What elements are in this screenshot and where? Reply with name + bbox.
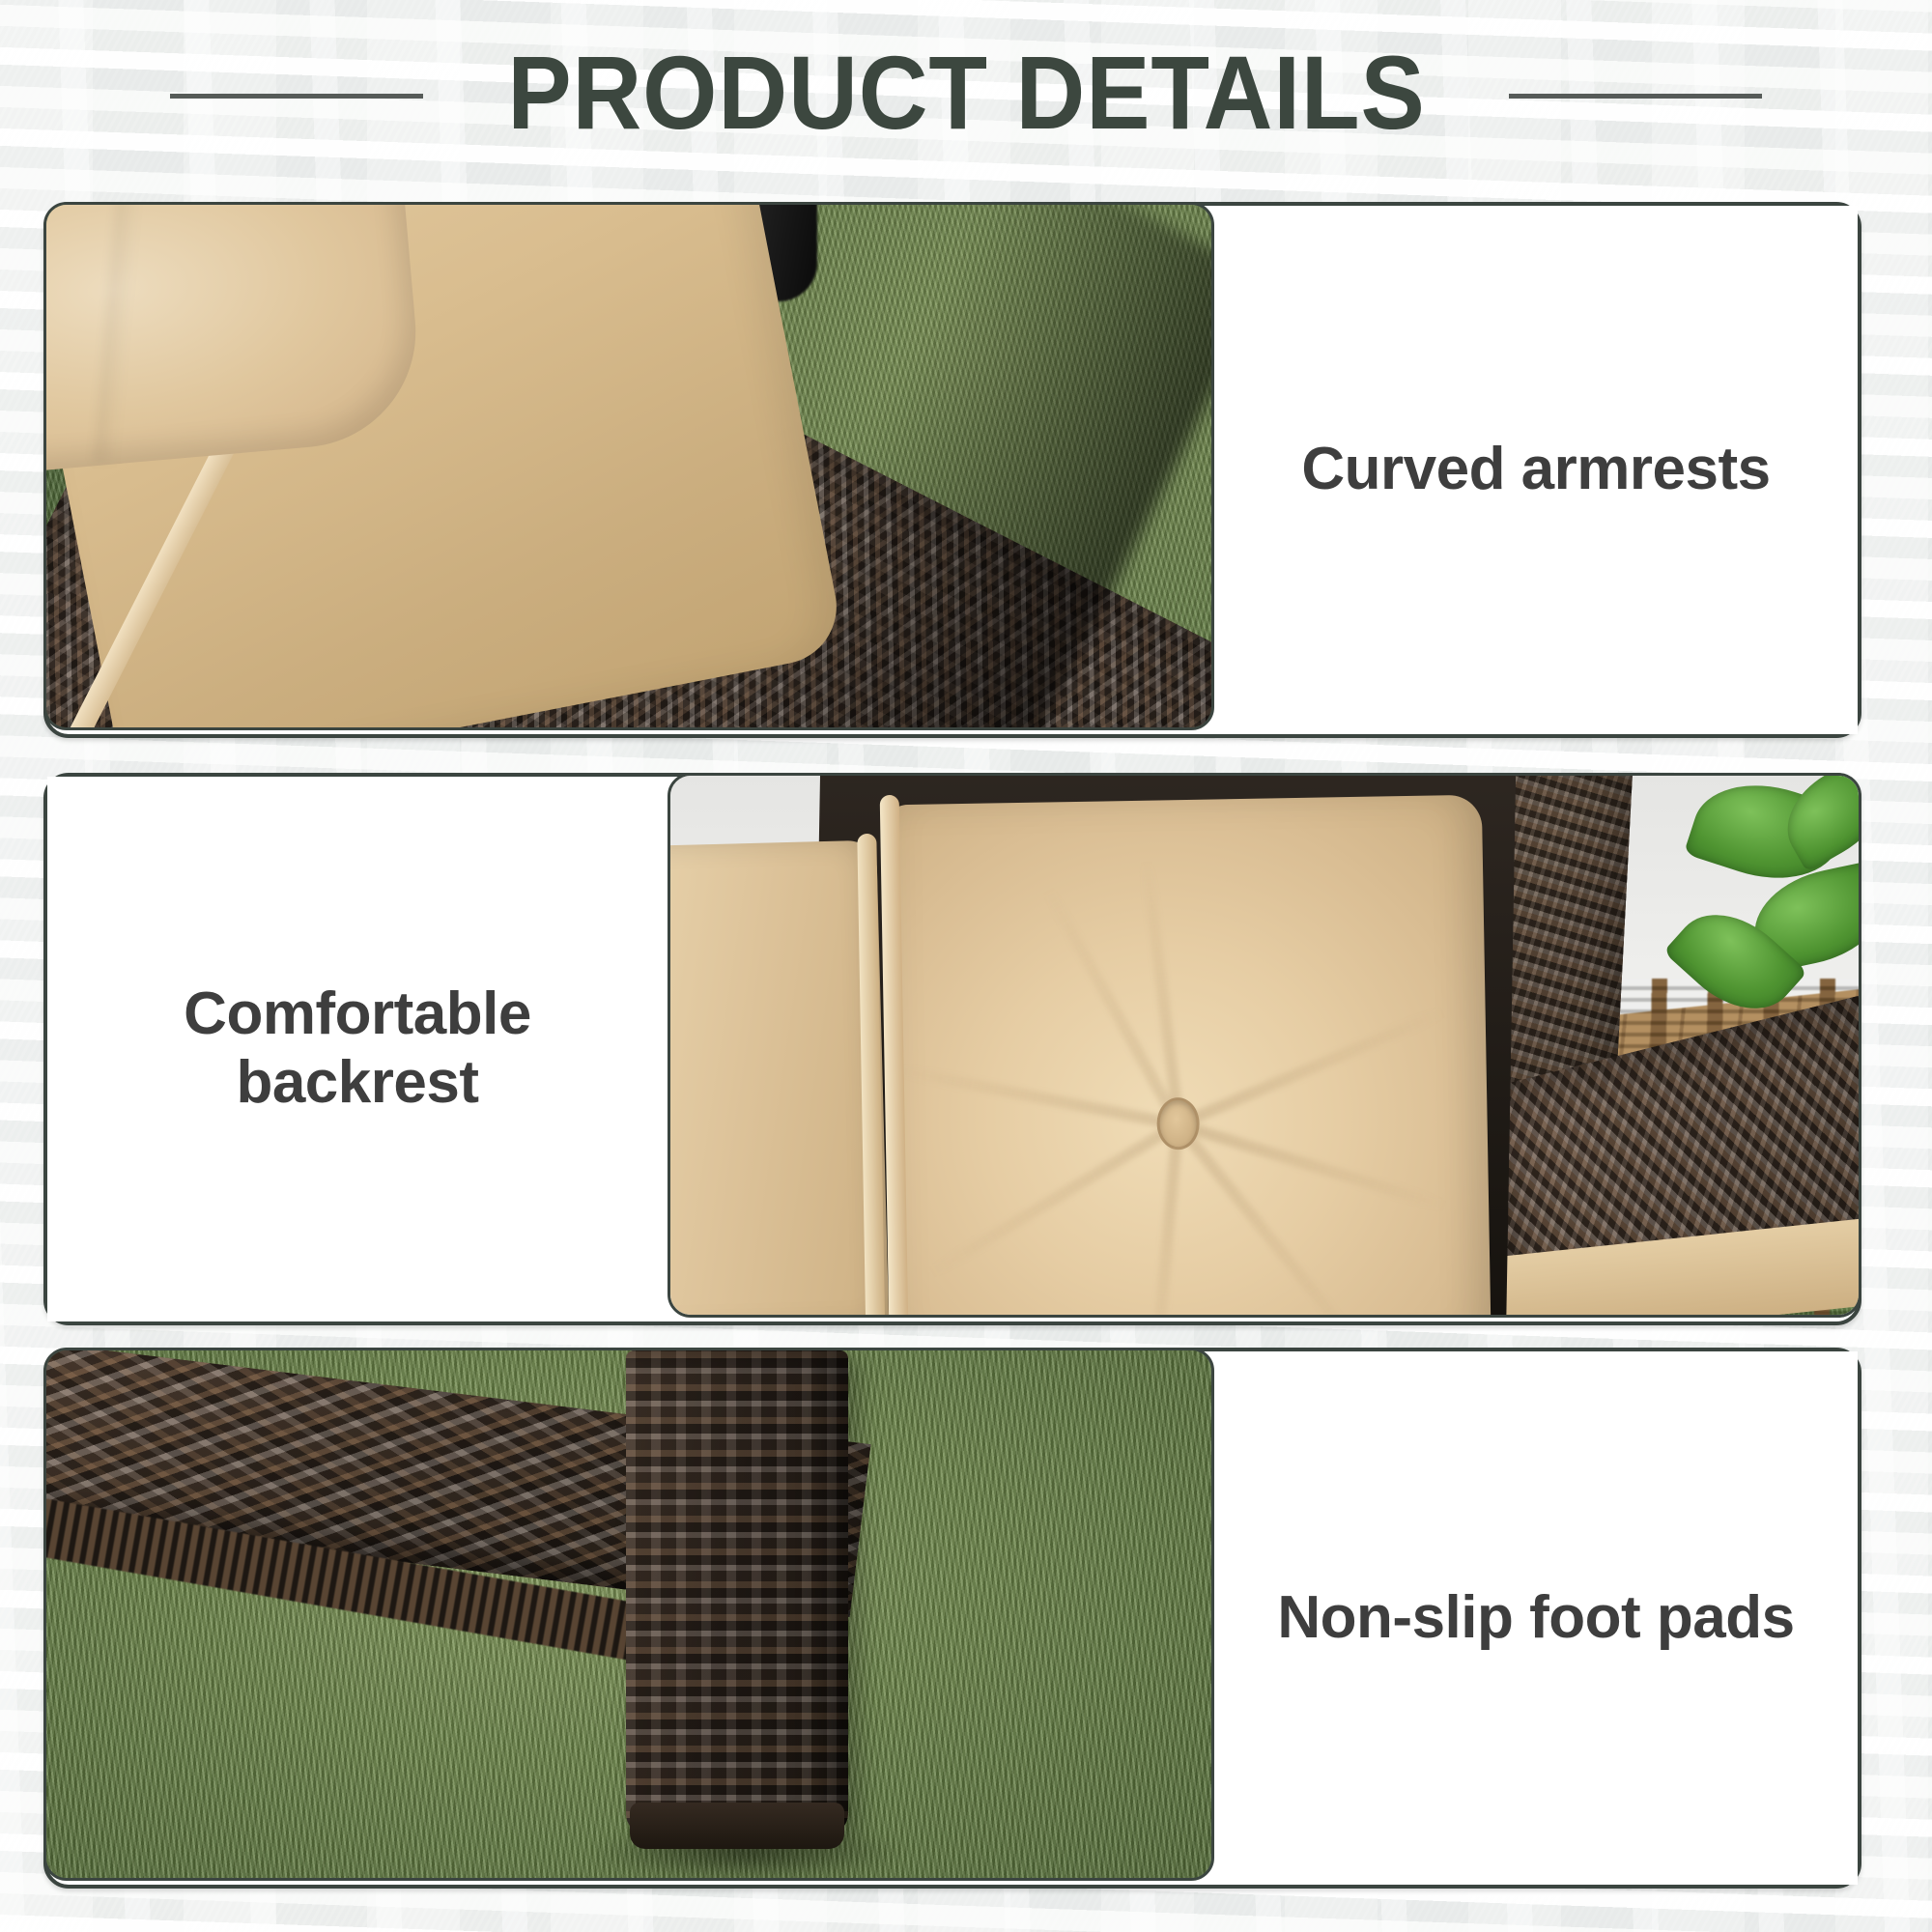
side-backrest-cushion [668,840,890,1318]
title-rule-left [170,94,423,99]
title-rule-right [1509,94,1762,99]
cushion-crease [1176,1006,1447,1129]
caption-cell-comfortable-backrest: Comfortable backrest [47,777,668,1321]
cushion-crease [893,1064,1179,1130]
feature-card-comfortable-backrest: Comfortable backrest [43,773,1861,1325]
caption-cell-curved-armrests: Curved armrests [1214,206,1858,734]
caption-line-2: backrest [236,1049,478,1116]
feature-card-curved-armrests: Curved armrests [43,202,1861,738]
feature-image-non-slip-foot-pads [43,1348,1214,1881]
feature-caption-comfortable-backrest: Comfortable backrest [184,980,531,1117]
rattan-chair-leg [626,1350,848,1833]
feature-image-comfortable-backrest [668,773,1861,1318]
main-backrest-cushion [883,795,1492,1318]
feature-caption-curved-armrests: Curved armrests [1301,436,1770,504]
caption-cell-non-slip-foot-pads: Non-slip foot pads [1214,1351,1858,1885]
non-slip-foot-pad [630,1803,844,1849]
feature-card-non-slip-foot-pads: Non-slip foot pads [43,1348,1861,1889]
page-title: PRODUCT DETAILS [507,32,1425,153]
page-header: PRODUCT DETAILS [0,0,1932,184]
caption-line-1: Comfortable [184,980,531,1047]
cushion-crease [926,1120,1180,1279]
feature-caption-non-slip-foot-pads: Non-slip foot pads [1277,1584,1794,1653]
feature-image-curved-armrests [43,202,1214,730]
